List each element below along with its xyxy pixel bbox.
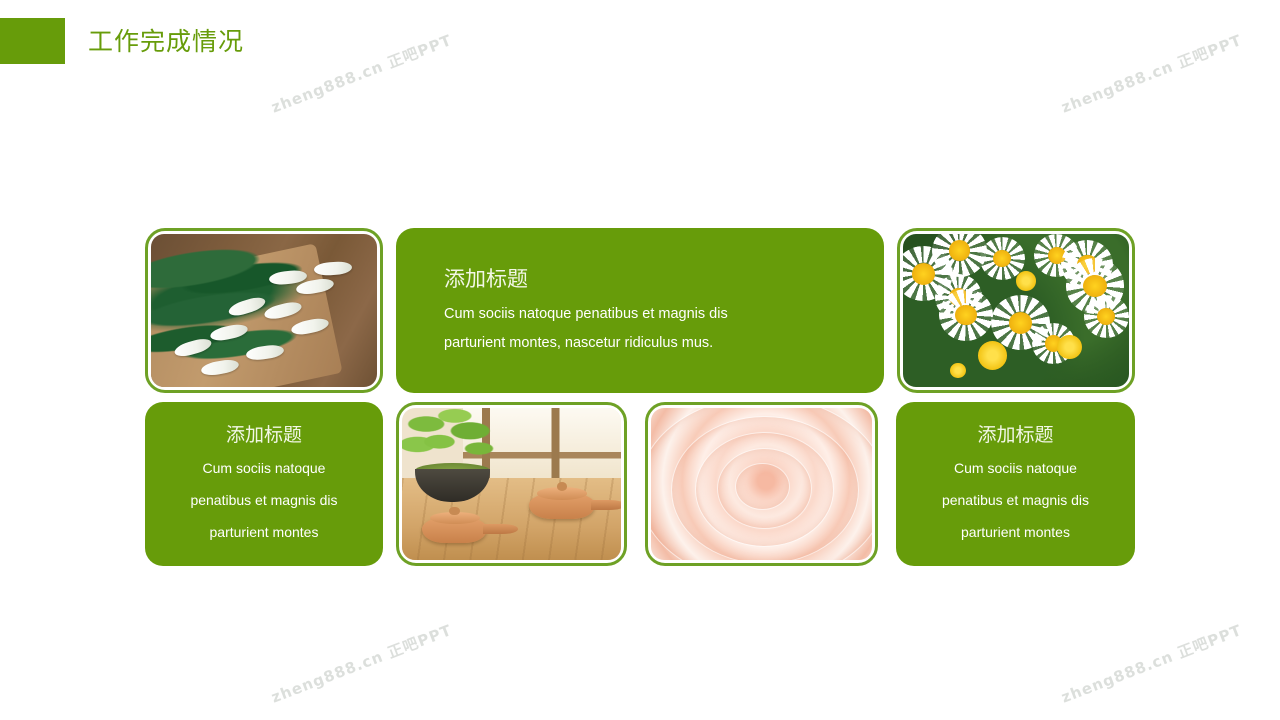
daisy-flower — [932, 234, 986, 277]
text-panel-bottom-left[interactable]: 添加标题 Cum sociis natoque penatibus et mag… — [145, 402, 383, 566]
daisy-flower — [939, 289, 993, 341]
text-panel-top[interactable]: 添加标题 Cum sociis natoque penatibus et mag… — [396, 228, 884, 393]
watermark: zheng888.cn 正吧PPT — [1058, 619, 1245, 707]
photo-card-daisies[interactable] — [897, 228, 1135, 393]
panel-title: 添加标题 — [977, 420, 1053, 450]
yellow-bud — [1016, 271, 1036, 291]
teapot-knob — [449, 507, 460, 516]
panel-body-line-3: parturient montes — [210, 516, 319, 548]
content-board: 添加标题 Cum sociis natoque penatibus et mag… — [145, 228, 1135, 568]
panel-body-line-1: Cum sociis natoque — [203, 452, 326, 484]
teapot-handle — [483, 524, 517, 534]
watermark: zheng888.cn 正吧PPT — [268, 29, 455, 117]
panel-body-line-2: parturient montes, nascetur ridiculus mu… — [444, 329, 836, 358]
photo-card-tulips[interactable] — [145, 228, 383, 393]
panel-body-line-2: penatibus et magnis dis — [190, 484, 337, 516]
teapot-back — [529, 493, 595, 519]
accent-block — [0, 18, 65, 64]
teapot-handle — [591, 500, 621, 510]
watermark: zheng888.cn 正吧PPT — [1058, 29, 1245, 117]
panel-body-line-2: penatibus et magnis dis — [942, 484, 1089, 516]
panel-body-line-1: Cum sociis natoque — [954, 452, 1077, 484]
page-title: 工作完成情况 — [88, 26, 244, 58]
panel-title: 添加标题 — [444, 264, 836, 294]
teapot-knob — [557, 482, 568, 491]
panel-body-line-1: Cum sociis natoque penatibus et magnis d… — [444, 300, 836, 329]
yellow-bud — [950, 363, 966, 378]
teaset-image — [402, 408, 621, 560]
panel-body-line-3: parturient montes — [961, 516, 1070, 548]
teapot-front — [422, 517, 488, 543]
photo-card-rose[interactable] — [645, 402, 878, 566]
daisy-flower — [1084, 295, 1129, 338]
rose-petal — [651, 408, 872, 560]
rose-image — [651, 408, 872, 560]
daisies-image — [903, 234, 1129, 387]
text-panel-bottom-right[interactable]: 添加标题 Cum sociis natoque penatibus et mag… — [896, 402, 1135, 566]
photo-card-teaset[interactable] — [396, 402, 627, 566]
tulips-image — [151, 234, 377, 387]
yellow-bud — [978, 341, 1007, 370]
yellow-bud — [1057, 335, 1082, 359]
watermark: zheng888.cn 正吧PPT — [268, 619, 455, 707]
panel-title: 添加标题 — [226, 420, 302, 450]
